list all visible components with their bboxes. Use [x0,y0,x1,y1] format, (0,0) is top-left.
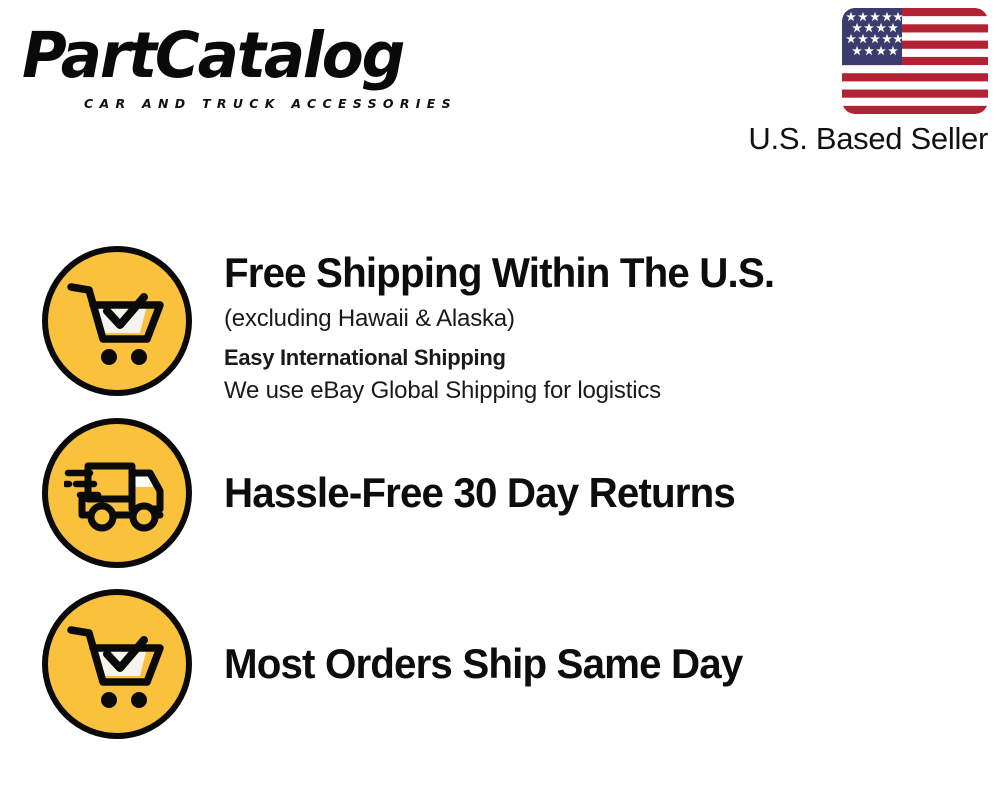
feature-headline: Free Shipping Within The U.S. [224,248,774,298]
feature-sub-note: (excluding Hawaii & Alaska) [224,302,797,336]
brand-logo: PartCatalog CAR AND TRUCK ACCESSORIES [22,22,492,117]
feature-text: Most Orders Ship Same Day [224,639,764,689]
feature-sub-detail: We use eBay Global Shipping for logistic… [224,374,797,408]
feature-headline: Most Orders Ship Same Day [224,639,742,689]
feature-row: Hassle-Free 30 Day Returns [42,418,982,568]
delivery-truck-icon [42,418,192,568]
shopping-cart-check-icon [42,589,192,739]
feature-sub-title: Easy International Shipping [224,342,797,374]
us-flag-icon [842,8,988,114]
feature-text: Free Shipping Within The U.S. (excluding… [224,246,797,408]
feature-text: Hassle-Free 30 Day Returns [224,468,756,518]
seller-label: U.S. Based Seller [720,121,988,157]
promo-banner: PartCatalog CAR AND TRUCK ACCESSORIES [0,0,1000,800]
seller-badge: U.S. Based Seller [720,8,988,157]
feature-headline: Hassle-Free 30 Day Returns [224,468,735,518]
banner-header: PartCatalog CAR AND TRUCK ACCESSORIES [0,0,1000,170]
brand-tagline: CAR AND TRUCK ACCESSORIES [84,96,457,111]
shopping-cart-check-icon [42,246,192,396]
brand-name: PartCatalog [22,22,478,90]
feature-row: Free Shipping Within The U.S. (excluding… [42,246,982,408]
feature-row: Most Orders Ship Same Day [42,589,982,739]
